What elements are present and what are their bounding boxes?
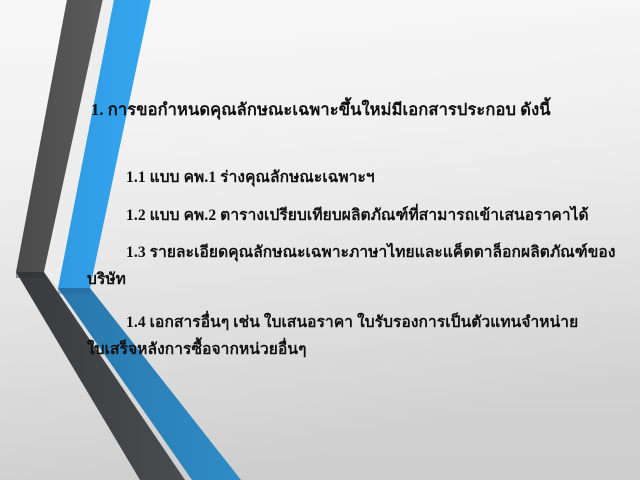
list-item-1-3-continuation: บริษัท	[87, 270, 126, 290]
list-item-1-2: 1.2 แบบ คพ.2 ตารางเปรียบเทียบผลิตภัณฑ์ที…	[126, 206, 589, 226]
list-item-1-4: 1.4 เอกสารอื่นๆ เช่น ใบเสนอราคา ใบรับรอง…	[126, 313, 578, 333]
slide-title: 1. การขอกำหนดคุณลักษณะเฉพาะขึ้นใหม่มีเอก…	[91, 100, 551, 120]
list-item-1-3: 1.3 รายละเอียดคุณลักษณะเฉพาะภาษาไทยและแค…	[126, 243, 616, 263]
list-item-1-4-continuation: ใบเสร็จหลังการซื้อจากหน่วยอื่นๆ	[87, 340, 307, 360]
list-item-1-1: 1.1 แบบ คพ.1 ร่างคุณลักษณะเฉพาะฯ	[126, 168, 375, 188]
presentation-slide: 1. การขอกำหนดคุณลักษณะเฉพาะขึ้นใหม่มีเอก…	[0, 0, 640, 480]
slide-text-content: 1. การขอกำหนดคุณลักษณะเฉพาะขึ้นใหม่มีเอก…	[0, 0, 640, 480]
